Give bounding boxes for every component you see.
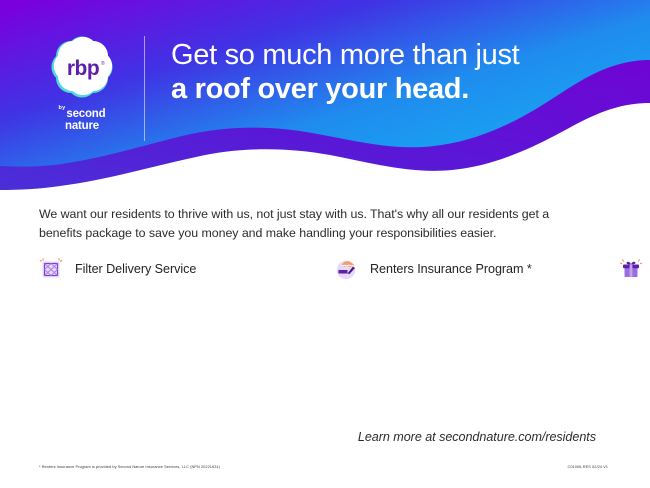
gift-icon (619, 257, 643, 281)
umbrella-icon (334, 257, 358, 281)
benefit-item: Resident Rewards Program (619, 252, 650, 287)
rbp-logo-mark: rbp ® (49, 34, 115, 100)
logo-byline-by: by (59, 106, 66, 112)
hero-headline: Get so much more than just a roof over y… (171, 30, 519, 106)
benefit-label: Filter Delivery Service (75, 262, 196, 276)
footnote-disclaimer: * Renters Insurance Program is provided … (39, 464, 220, 469)
hero-content: rbp ® bysecond nature Get so much more t… (0, 0, 650, 190)
benefits-list: Filter Delivery Service Renters Insuranc… (39, 252, 619, 287)
headline-line-2: a roof over your head. (171, 72, 519, 106)
rbp-logo-text: rbp (67, 57, 99, 80)
rbp-logo-trademark: ® (101, 60, 105, 67)
logo-byline-nature: nature (59, 121, 106, 133)
rosette-icon: rbp ® (49, 34, 115, 100)
benefit-item: Filter Delivery Service (39, 252, 334, 287)
hero-banner: rbp ® bysecond nature Get so much more t… (0, 0, 650, 190)
rbp-benefits-flyer: rbp ® bysecond nature Get so much more t… (0, 0, 650, 488)
learn-more-text: Learn more at secondnature.com/residents (358, 430, 596, 444)
logo-byline: bysecond nature (59, 105, 106, 133)
intro-paragraph: We want our residents to thrive with us,… (39, 205, 595, 243)
hero-divider (144, 36, 145, 141)
filter-icon (39, 257, 63, 281)
rbp-logo: rbp ® bysecond nature (36, 30, 128, 133)
headline-line-1: Get so much more than just (171, 38, 519, 72)
benefit-item: Renters Insurance Program * (334, 252, 619, 287)
benefit-label: Renters Insurance Program * (370, 262, 532, 276)
logo-byline-second: second (66, 108, 105, 120)
document-code: C01006-RES 02/24 V1 (567, 464, 608, 469)
